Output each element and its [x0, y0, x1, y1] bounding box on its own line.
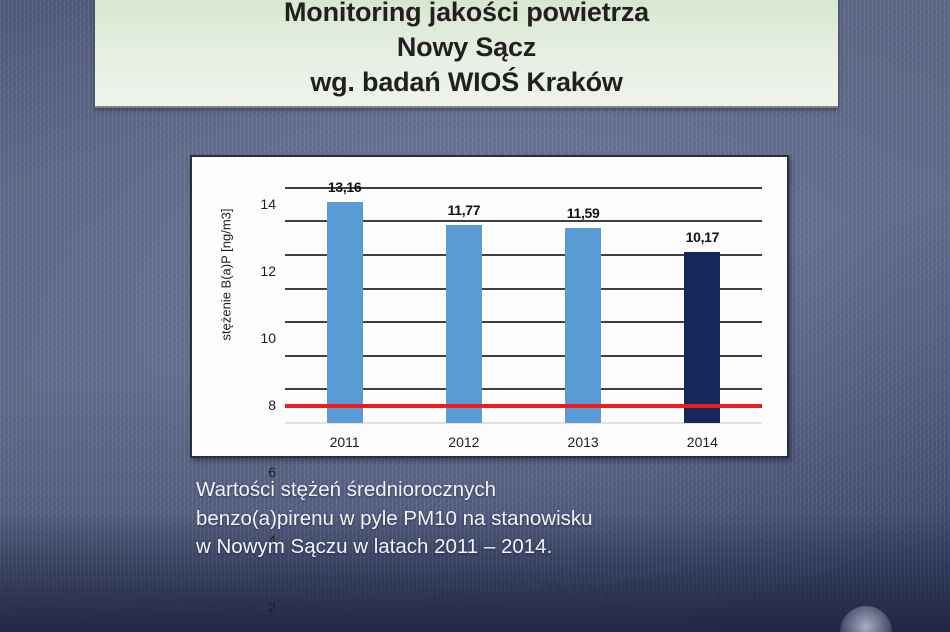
bar-2014 — [684, 252, 720, 423]
title-line-3: wg. badań WIOŚ Kraków — [310, 65, 622, 100]
x-tick-label-2011: 2011 — [330, 434, 360, 450]
chart-card: stężenie B(a)P [ng/m3] 02468101214 13,16… — [190, 155, 789, 458]
x-tick-label-2013: 2013 — [568, 434, 599, 450]
y-tick-label-2: 2 — [268, 599, 276, 615]
caption-line-3: w Nowym Sączu w latach 2011 – 2014. — [196, 533, 836, 562]
corner-glow-decoration — [840, 606, 892, 632]
bar-value-label-2011: 13,16 — [328, 179, 362, 195]
bar-value-label-2014: 10,17 — [686, 229, 720, 245]
chart-plot-surface: stężenie B(a)P [ng/m3] 02468101214 13,16… — [192, 157, 787, 456]
x-tick-label-2014: 2014 — [687, 434, 718, 450]
chart-plot-area: 02468101214 13,1611,7711,5910,17 2011201… — [285, 171, 762, 423]
y-tick-label-14: 14 — [260, 196, 276, 212]
bar-2011 — [327, 202, 363, 423]
bar-value-label-2013: 11,59 — [567, 205, 600, 221]
title-line-1: Monitoring jakości powietrza — [284, 0, 649, 30]
y-tick-label-10: 10 — [260, 330, 276, 346]
caption-line-1: Wartości stężeń średniorocznych — [196, 476, 836, 505]
limit-line-annotation — [285, 404, 762, 408]
bar-2012 — [446, 225, 482, 423]
title-line-2: Nowy Sącz — [397, 30, 536, 65]
x-tick-label-2012: 2012 — [448, 434, 479, 450]
caption-block: Wartości stężeń średniorocznych benzo(a)… — [196, 476, 836, 562]
y-tick-label-8: 8 — [268, 397, 276, 413]
bar-value-label-2012: 11,77 — [447, 202, 480, 218]
y-tick-label-12: 12 — [260, 263, 276, 279]
y-axis-title: stężenie B(a)P [ng/m3] — [219, 175, 234, 375]
title-banner: Monitoring jakości powietrza Nowy Sącz w… — [95, 0, 838, 108]
slide-canvas: Monitoring jakości powietrza Nowy Sącz w… — [0, 0, 950, 632]
caption-line-2: benzo(a)pirenu w pyle PM10 na stanowisku — [196, 505, 836, 534]
bar-2013 — [565, 228, 601, 423]
